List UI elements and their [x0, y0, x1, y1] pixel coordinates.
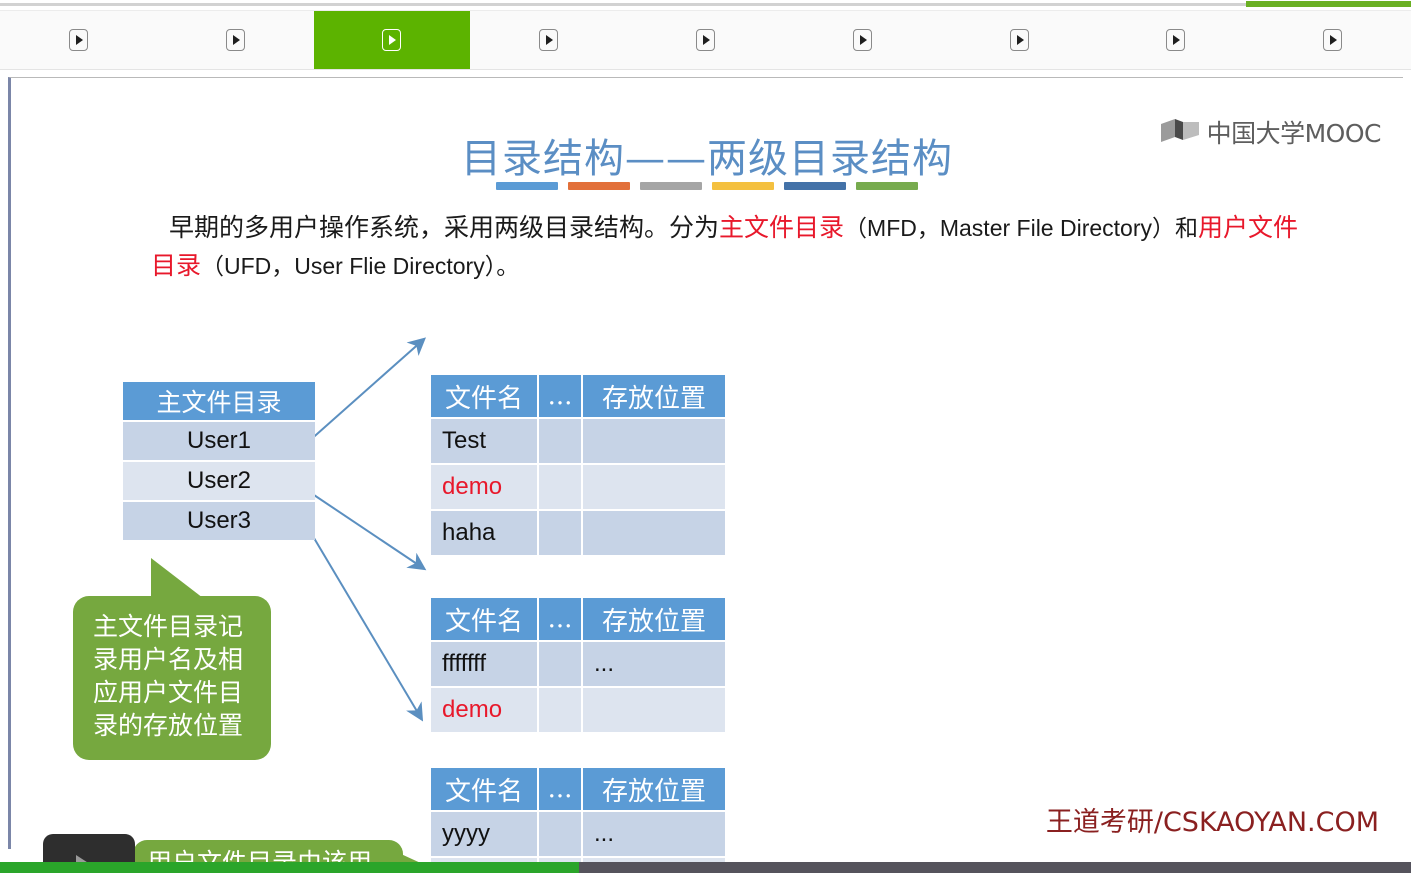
- ufd-cell-name: haha: [431, 511, 539, 555]
- ufd-table-header: 文件名...存放位置: [431, 375, 725, 417]
- ufd-cell-dots: [539, 465, 583, 509]
- ufd-table-row: yyyy...: [431, 810, 725, 856]
- play-icon: [1323, 29, 1342, 51]
- mfd-row: User1: [123, 420, 315, 460]
- ufd-cell-name: demo: [431, 688, 539, 732]
- chapter-tab-7[interactable]: [941, 11, 1098, 69]
- ufd-table-3: 文件名...存放位置yyyy...xxxx...: [431, 768, 725, 873]
- play-triangle-glyph: [1017, 35, 1024, 45]
- ufd-cell-loc: ...: [583, 642, 725, 686]
- play-triangle-glyph: [703, 35, 710, 45]
- arrow-user2: [311, 493, 423, 568]
- ufd-table-header: 文件名...存放位置: [431, 598, 725, 640]
- ufd-table-row: demo: [431, 686, 725, 732]
- ufd-header-cell: ...: [539, 768, 583, 810]
- play-triangle-glyph: [1173, 35, 1180, 45]
- callout-mfd-text: 主文件目录记录用户名及相应用户文件目录的存放位置: [93, 610, 271, 742]
- play-icon: [1010, 29, 1029, 51]
- ufd-header-cell: 文件名: [431, 598, 539, 640]
- play-icon: [69, 29, 88, 51]
- top-active-chapter-underline: [1246, 1, 1411, 7]
- title-bar-6: [856, 182, 918, 190]
- callout-line: 主文件目录记: [93, 610, 271, 643]
- ufd-table-row: haha: [431, 509, 725, 555]
- ufd-cell-dots: [539, 511, 583, 555]
- callout-line: 录的存放位置: [93, 709, 271, 742]
- ufd-cell-name: yyyy: [431, 812, 539, 856]
- chapter-tab-8[interactable]: [1097, 11, 1254, 69]
- callout-mfd-note: 主文件目录记录用户名及相应用户文件目录的存放位置: [73, 596, 271, 760]
- ufd-header-cell: ...: [539, 598, 583, 640]
- ufd-cell-dots: [539, 688, 583, 732]
- ufd-table-row: Test: [431, 417, 725, 463]
- callout-line: 录用户名及相: [93, 643, 271, 676]
- video-progress-fill: [0, 862, 579, 873]
- ufd-table-header: 文件名...存放位置: [431, 768, 725, 810]
- play-icon: [1166, 29, 1185, 51]
- ufd-table-2: 文件名...存放位置fffffff...demo: [431, 598, 725, 732]
- top-divider-line: [0, 3, 1411, 6]
- mfd-rows: User1User2User3: [123, 420, 315, 540]
- ufd-cell-name: Test: [431, 419, 539, 463]
- ufd-cell-name: demo: [431, 465, 539, 509]
- play-triangle-glyph: [76, 35, 83, 45]
- video-progress-bar[interactable]: [0, 862, 1411, 873]
- mfd-header: 主文件目录: [123, 382, 315, 420]
- chapter-tab-3[interactable]: [314, 11, 471, 69]
- play-triangle-glyph: [860, 35, 867, 45]
- paragraph-highlight-mfd: 主文件目录: [719, 213, 844, 242]
- ufd-cell-dots: [539, 812, 583, 856]
- play-triangle-glyph: [1330, 35, 1337, 45]
- ufd-header-cell: 文件名: [431, 768, 539, 810]
- chapter-tab-2[interactable]: [157, 11, 314, 69]
- top-strip: [0, 0, 1411, 6]
- ufd-cell-loc: [583, 511, 725, 555]
- chapter-tab-1[interactable]: [0, 11, 157, 69]
- play-triangle-glyph: [233, 35, 240, 45]
- slide-canvas: 中国大学MOOC 目录结构——两级目录结构 早期的多用户操作系统，采用两级目录结…: [8, 77, 1403, 849]
- ufd-header-cell: 存放位置: [583, 375, 725, 417]
- title-bar-3: [640, 182, 702, 190]
- mfd-table: 主文件目录 User1User2User3: [123, 382, 315, 540]
- arrow-user3: [311, 533, 421, 718]
- ufd-cell-name: fffffff: [431, 642, 539, 686]
- title-bar-2: [568, 182, 630, 190]
- ufd-table-1: 文件名...存放位置Testdemohaha: [431, 375, 725, 555]
- title-decoration-bars: [496, 182, 918, 190]
- paragraph-segment-2: （MFD，Master File Directory）和: [844, 215, 1198, 241]
- paragraph-segment-3: （UFD，User Flie Directory）。: [201, 253, 519, 279]
- chapter-tab-6[interactable]: [784, 11, 941, 69]
- callout-line: 应用户文件目: [93, 676, 271, 709]
- chapter-tab-5[interactable]: [627, 11, 784, 69]
- mfd-row: User2: [123, 460, 315, 500]
- slide-paragraph: 早期的多用户操作系统，采用两级目录结构。分为主文件目录（MFD，Master F…: [151, 209, 1316, 285]
- play-triangle-glyph: [389, 35, 396, 45]
- chapter-tab-bar[interactable]: [0, 10, 1411, 70]
- callout-mfd-tail: [151, 558, 203, 598]
- ufd-header-cell: 存放位置: [583, 768, 725, 810]
- chapter-tab-9[interactable]: [1254, 11, 1411, 69]
- ufd-cell-loc: [583, 465, 725, 509]
- ufd-cell-dots: [539, 419, 583, 463]
- title-bar-5: [784, 182, 846, 190]
- ufd-cell-dots: [539, 642, 583, 686]
- watermark: 王道考研/CSKAOYAN.COM: [1046, 800, 1379, 839]
- ufd-table-row: fffffff...: [431, 640, 725, 686]
- title-bar-4: [712, 182, 774, 190]
- ufd-cell-loc: ...: [583, 812, 725, 856]
- play-icon: [696, 29, 715, 51]
- ufd-table-row: demo: [431, 463, 725, 509]
- play-icon: [539, 29, 558, 51]
- chapter-tab-4[interactable]: [470, 11, 627, 69]
- play-icon: [382, 29, 401, 51]
- ufd-header-cell: 存放位置: [583, 598, 725, 640]
- ufd-cell-loc: [583, 688, 725, 732]
- ufd-header-cell: ...: [539, 375, 583, 417]
- slide-title: 目录结构——两级目录结构: [11, 126, 1403, 184]
- play-icon: [853, 29, 872, 51]
- arrow-user1: [299, 340, 423, 450]
- play-triangle-glyph: [546, 35, 553, 45]
- video-player-page: 中国大学MOOC 目录结构——两级目录结构 早期的多用户操作系统，采用两级目录结…: [0, 0, 1411, 873]
- paragraph-segment-1: 早期的多用户操作系统，采用两级目录结构。分为: [169, 213, 719, 242]
- mfd-row: User3: [123, 500, 315, 540]
- ufd-header-cell: 文件名: [431, 375, 539, 417]
- play-icon: [226, 29, 245, 51]
- title-bar-1: [496, 182, 558, 190]
- ufd-cell-loc: [583, 419, 725, 463]
